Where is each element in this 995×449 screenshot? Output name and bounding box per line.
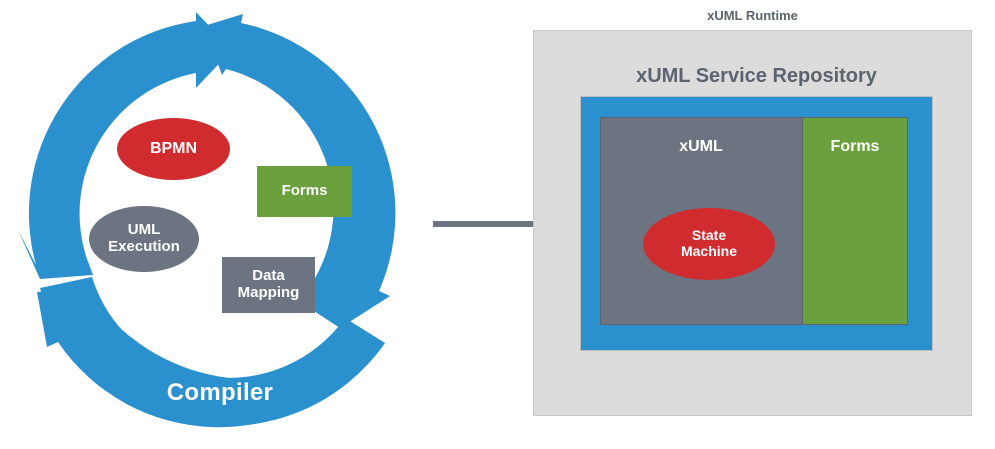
xuml-label: xUML (600, 138, 802, 156)
node-data-mapping-line2: Mapping (238, 284, 300, 301)
runtime-forms-label: Forms (802, 138, 908, 156)
node-data-mapping-label: Data Mapping (238, 268, 300, 302)
node-uml-execution-label: UML Execution (108, 222, 180, 256)
node-state-machine-line2: Machine (681, 243, 737, 259)
node-data-mapping[interactable]: Data Mapping (222, 257, 315, 313)
node-state-machine-label: State Machine (681, 228, 737, 259)
node-bpmn[interactable]: BPMN (117, 118, 230, 180)
node-uml-execution[interactable]: UML Execution (89, 206, 199, 272)
repository-title: xUML Service Repository (580, 65, 933, 88)
node-state-machine-line1: State (692, 227, 726, 243)
node-data-mapping-line1: Data (252, 267, 285, 284)
compiler-arrow-ring (0, 0, 440, 449)
node-bpmn-label: BPMN (150, 140, 197, 158)
node-uml-execution-line1: UML (128, 221, 161, 238)
node-state-machine[interactable]: State Machine (643, 208, 775, 280)
diagram-canvas: Compiler BPMN UML Execution Forms Data M… (0, 0, 995, 449)
runtime-title: xUML Runtime (533, 8, 972, 23)
node-forms-label: Forms (282, 183, 328, 200)
node-uml-execution-line2: Execution (108, 238, 180, 255)
node-forms[interactable]: Forms (257, 166, 352, 217)
compiler-cycle-graphic: Compiler (0, 0, 440, 449)
